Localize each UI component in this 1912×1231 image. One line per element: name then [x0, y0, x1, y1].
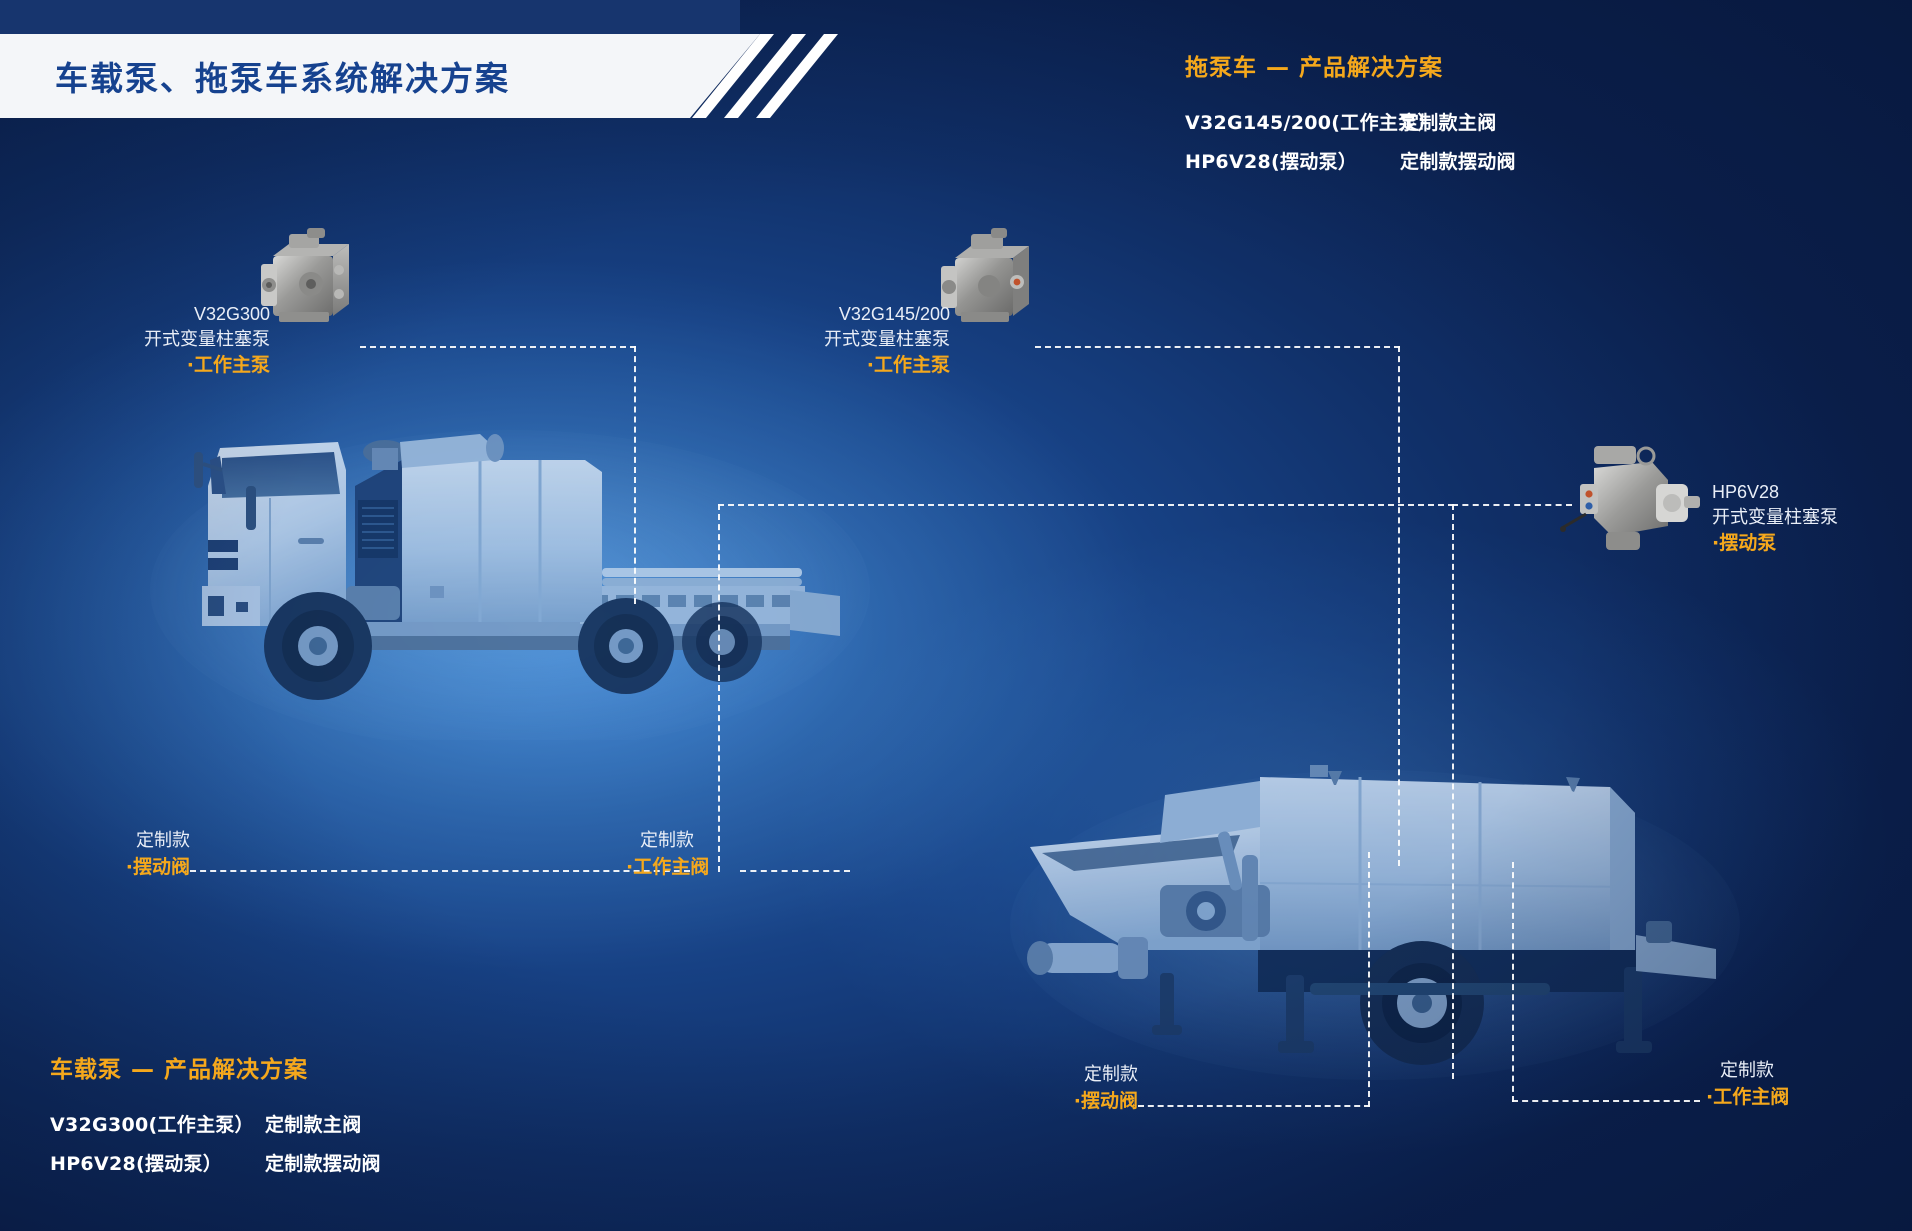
legend-trailer-pump-heading: 拖泵车 — 产品解决方案 [1185, 48, 1516, 82]
legend-product-label: V32G300(工作主泵） [50, 1110, 265, 1137]
legend-truck-mounted-pump: 车载泵 — 产品解决方案 V32G300(工作主泵） 定制款主阀 HP6V28(… [50, 1050, 381, 1188]
slide-canvas: 车载泵、拖泵车系统解决方案 拖泵车 — 产品解决方案 V32G145/200(工… [0, 0, 1912, 1231]
legend-valve-label: 定制款摆动阀 [265, 1149, 381, 1176]
connector-trailer-swing-valve-riser [1368, 852, 1370, 1107]
callout-trailer-main-valve: 定制款 ·工作主阀 [1706, 1058, 1912, 1111]
callout-hp6v28: HP6V28 开式变量柱塞泵 ·摆动泵 [1712, 480, 1912, 556]
valve-callout-top: 定制款 [640, 828, 856, 854]
valve-callout-top: 定制款 [1720, 1058, 1912, 1084]
connector-trailer-main-valve-riser [1512, 862, 1514, 1102]
connector-truck-swing-valve [190, 870, 690, 872]
legend-valve-label: 定制款主阀 [1400, 108, 1497, 135]
callout-model: HP6V28 [1712, 480, 1912, 505]
callout-role: ·摆动泵 [1712, 530, 1912, 556]
valve-callout-name: ·摆动阀 [908, 1088, 1138, 1115]
page-title: 车载泵、拖泵车系统解决方案 [55, 52, 510, 100]
valve-callout-top: 定制款 [908, 1062, 1138, 1088]
valve-callout-name: ·摆动阀 [0, 854, 190, 881]
callout-role: ·工作主泵 [710, 352, 950, 378]
legend-row: V32G300(工作主泵） 定制款主阀 [50, 1110, 381, 1137]
callout-description: 开式变量柱塞泵 [1712, 505, 1912, 530]
callout-trailer-swing-valve: 定制款 ·摆动阀 [908, 1062, 1138, 1115]
connector-v32g145-vertical [1398, 346, 1400, 866]
connector-hp6v28-branch [718, 504, 720, 872]
title-banner: 车载泵、拖泵车系统解决方案 [0, 34, 800, 118]
valve-callout-top: 定制款 [0, 828, 190, 854]
callout-v32g300: V32G300 开式变量柱塞泵 ·工作主泵 [30, 302, 270, 378]
triple-slash-icon [718, 34, 838, 118]
banner-top-bar [0, 0, 740, 34]
callout-model: V32G300 [30, 302, 270, 327]
legend-valve-label: 定制款主阀 [265, 1110, 362, 1137]
valve-callout-name: ·工作主阀 [626, 854, 856, 881]
connector-hp6v28-vertical [1452, 504, 1454, 1079]
connector-hp6v28-bus [718, 504, 1454, 506]
connector-trailer-swing-valve [1138, 1105, 1370, 1107]
legend-product-label: V32G145/200(工作主泵） [1185, 108, 1400, 135]
valve-callout-name: ·工作主阀 [1706, 1084, 1912, 1111]
callout-role: ·工作主泵 [30, 352, 270, 378]
background-vignette [0, 0, 1912, 1231]
callout-truck-main-valve: 定制款 ·工作主阀 [626, 828, 856, 881]
connector-v32g300-horizontal [360, 346, 636, 348]
callout-truck-swing-valve: 定制款 ·摆动阀 [0, 828, 190, 881]
legend-valve-label: 定制款摆动阀 [1400, 147, 1516, 174]
legend-product-label: HP6V28(摆动泵） [50, 1149, 265, 1176]
hp6v28-pump-image [1560, 440, 1700, 560]
callout-description: 开式变量柱塞泵 [30, 327, 270, 352]
connector-hp6v28-horizontal [1452, 504, 1572, 506]
legend-row: HP6V28(摆动泵） 定制款摆动阀 [50, 1149, 381, 1176]
legend-product-label: HP6V28(摆动泵） [1185, 147, 1400, 174]
connector-trailer-main-valve [1512, 1100, 1700, 1102]
connector-v32g145-horizontal [1035, 346, 1400, 348]
connector-v32g300-vertical [634, 346, 636, 604]
legend-row: HP6V28(摆动泵） 定制款摆动阀 [1185, 147, 1516, 174]
callout-description: 开式变量柱塞泵 [710, 327, 950, 352]
callout-model: V32G145/200 [710, 302, 950, 327]
legend-row: V32G145/200(工作主泵） 定制款主阀 [1185, 108, 1516, 135]
callout-v32g145-200: V32G145/200 开式变量柱塞泵 ·工作主泵 [710, 302, 950, 378]
legend-truck-mounted-pump-heading: 车载泵 — 产品解决方案 [50, 1050, 381, 1084]
legend-trailer-pump: 拖泵车 — 产品解决方案 V32G145/200(工作主泵） 定制款主阀 HP6… [1185, 48, 1516, 186]
